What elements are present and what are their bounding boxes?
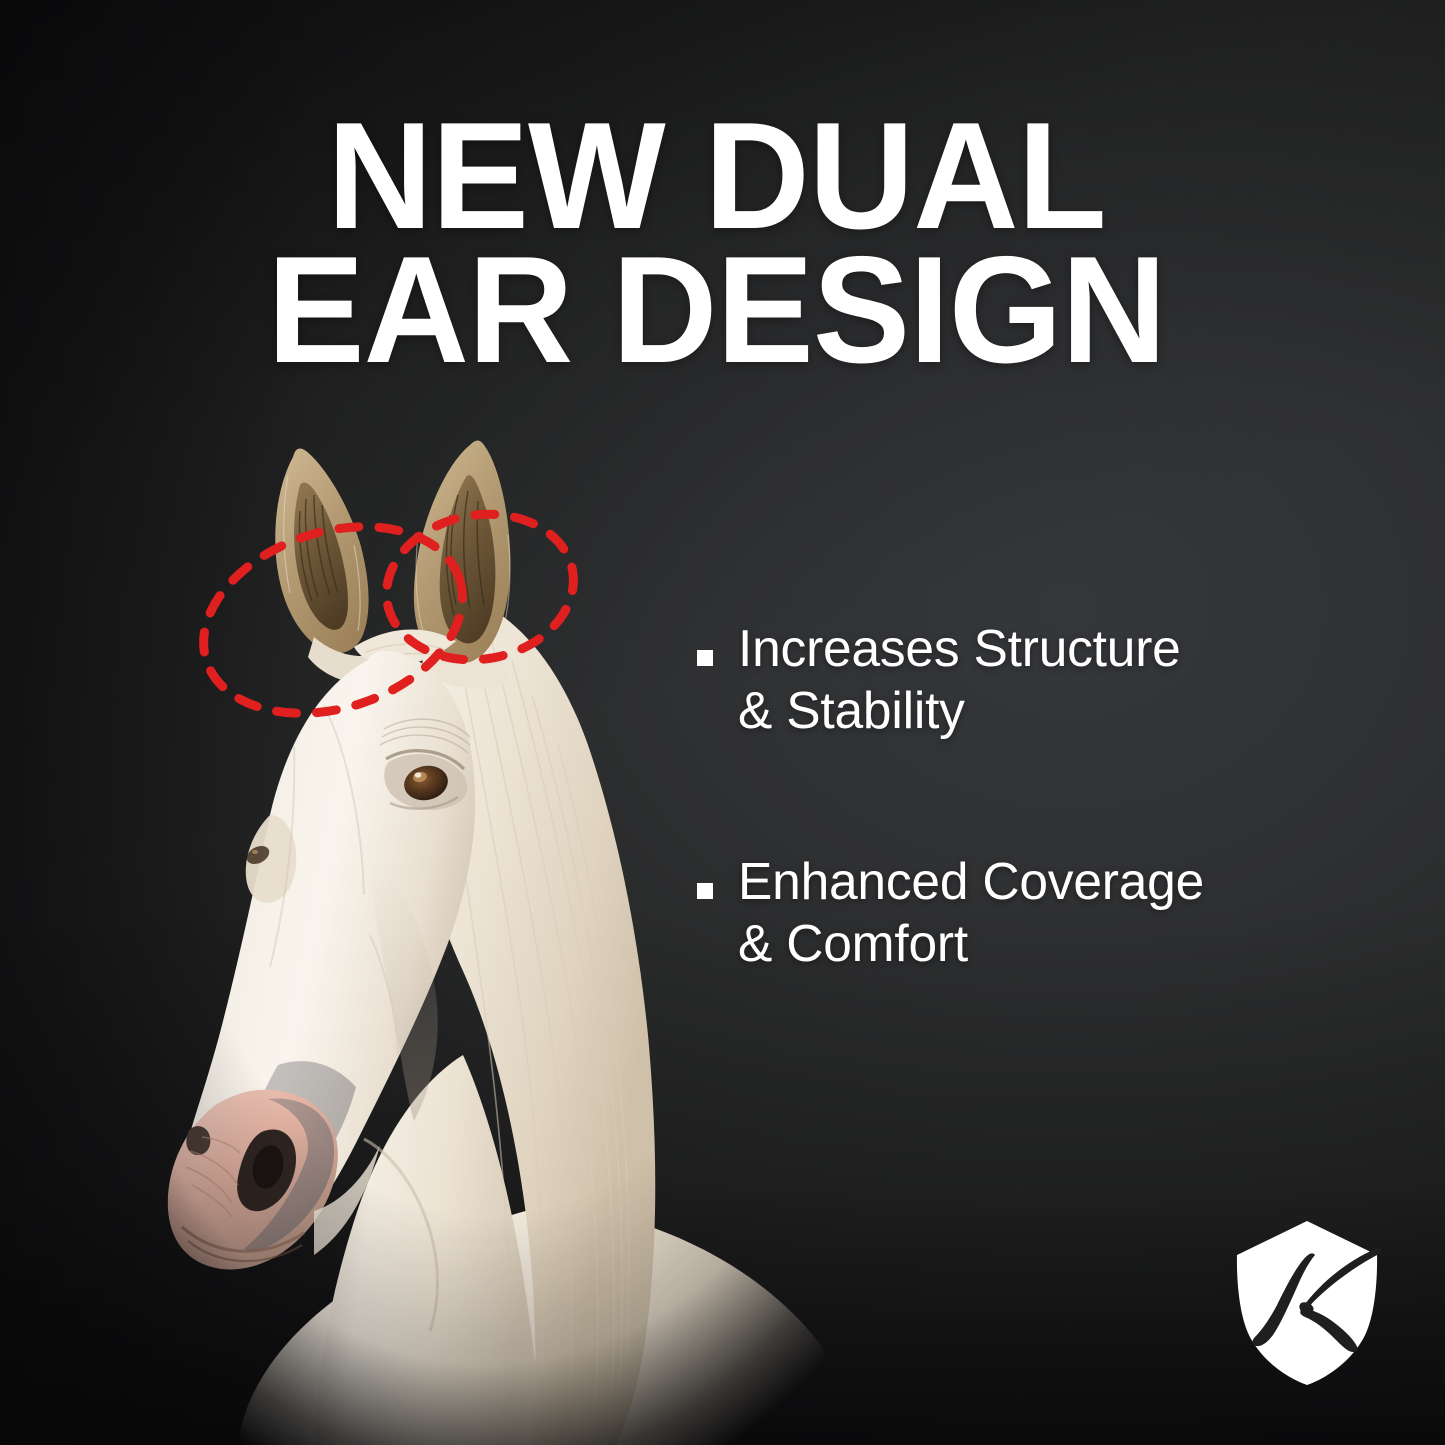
bullet-text-line-1: Enhanced Coverage bbox=[738, 851, 1204, 913]
brand-logo bbox=[1231, 1219, 1383, 1387]
headline: NEW DUAL EAR DESIGN bbox=[0, 110, 1445, 378]
product-feature-ad: NEW DUAL EAR DESIGN Increases Structure … bbox=[0, 0, 1445, 1445]
headline-line-1: NEW DUAL bbox=[29, 110, 1405, 244]
bullet-text-line-2: & Comfort bbox=[738, 913, 1204, 975]
square-bullet-icon bbox=[697, 883, 713, 899]
bullet-text-line-2: & Stability bbox=[738, 680, 1181, 742]
bullet-text: Increases Structure & Stability bbox=[738, 618, 1181, 743]
horse-nostril-far bbox=[186, 1126, 210, 1155]
square-bullet-icon bbox=[697, 650, 713, 666]
headline-line-2: EAR DESIGN bbox=[29, 244, 1405, 378]
feature-bullet-list: Increases Structure & Stability Enhanced… bbox=[697, 618, 1357, 976]
list-item: Increases Structure & Stability bbox=[697, 618, 1357, 743]
bullet-text: Enhanced Coverage & Comfort bbox=[738, 851, 1204, 976]
horse-muzzle bbox=[168, 1090, 338, 1270]
bullet-text-line-1: Increases Structure bbox=[738, 618, 1181, 680]
list-item: Enhanced Coverage & Comfort bbox=[697, 851, 1357, 976]
